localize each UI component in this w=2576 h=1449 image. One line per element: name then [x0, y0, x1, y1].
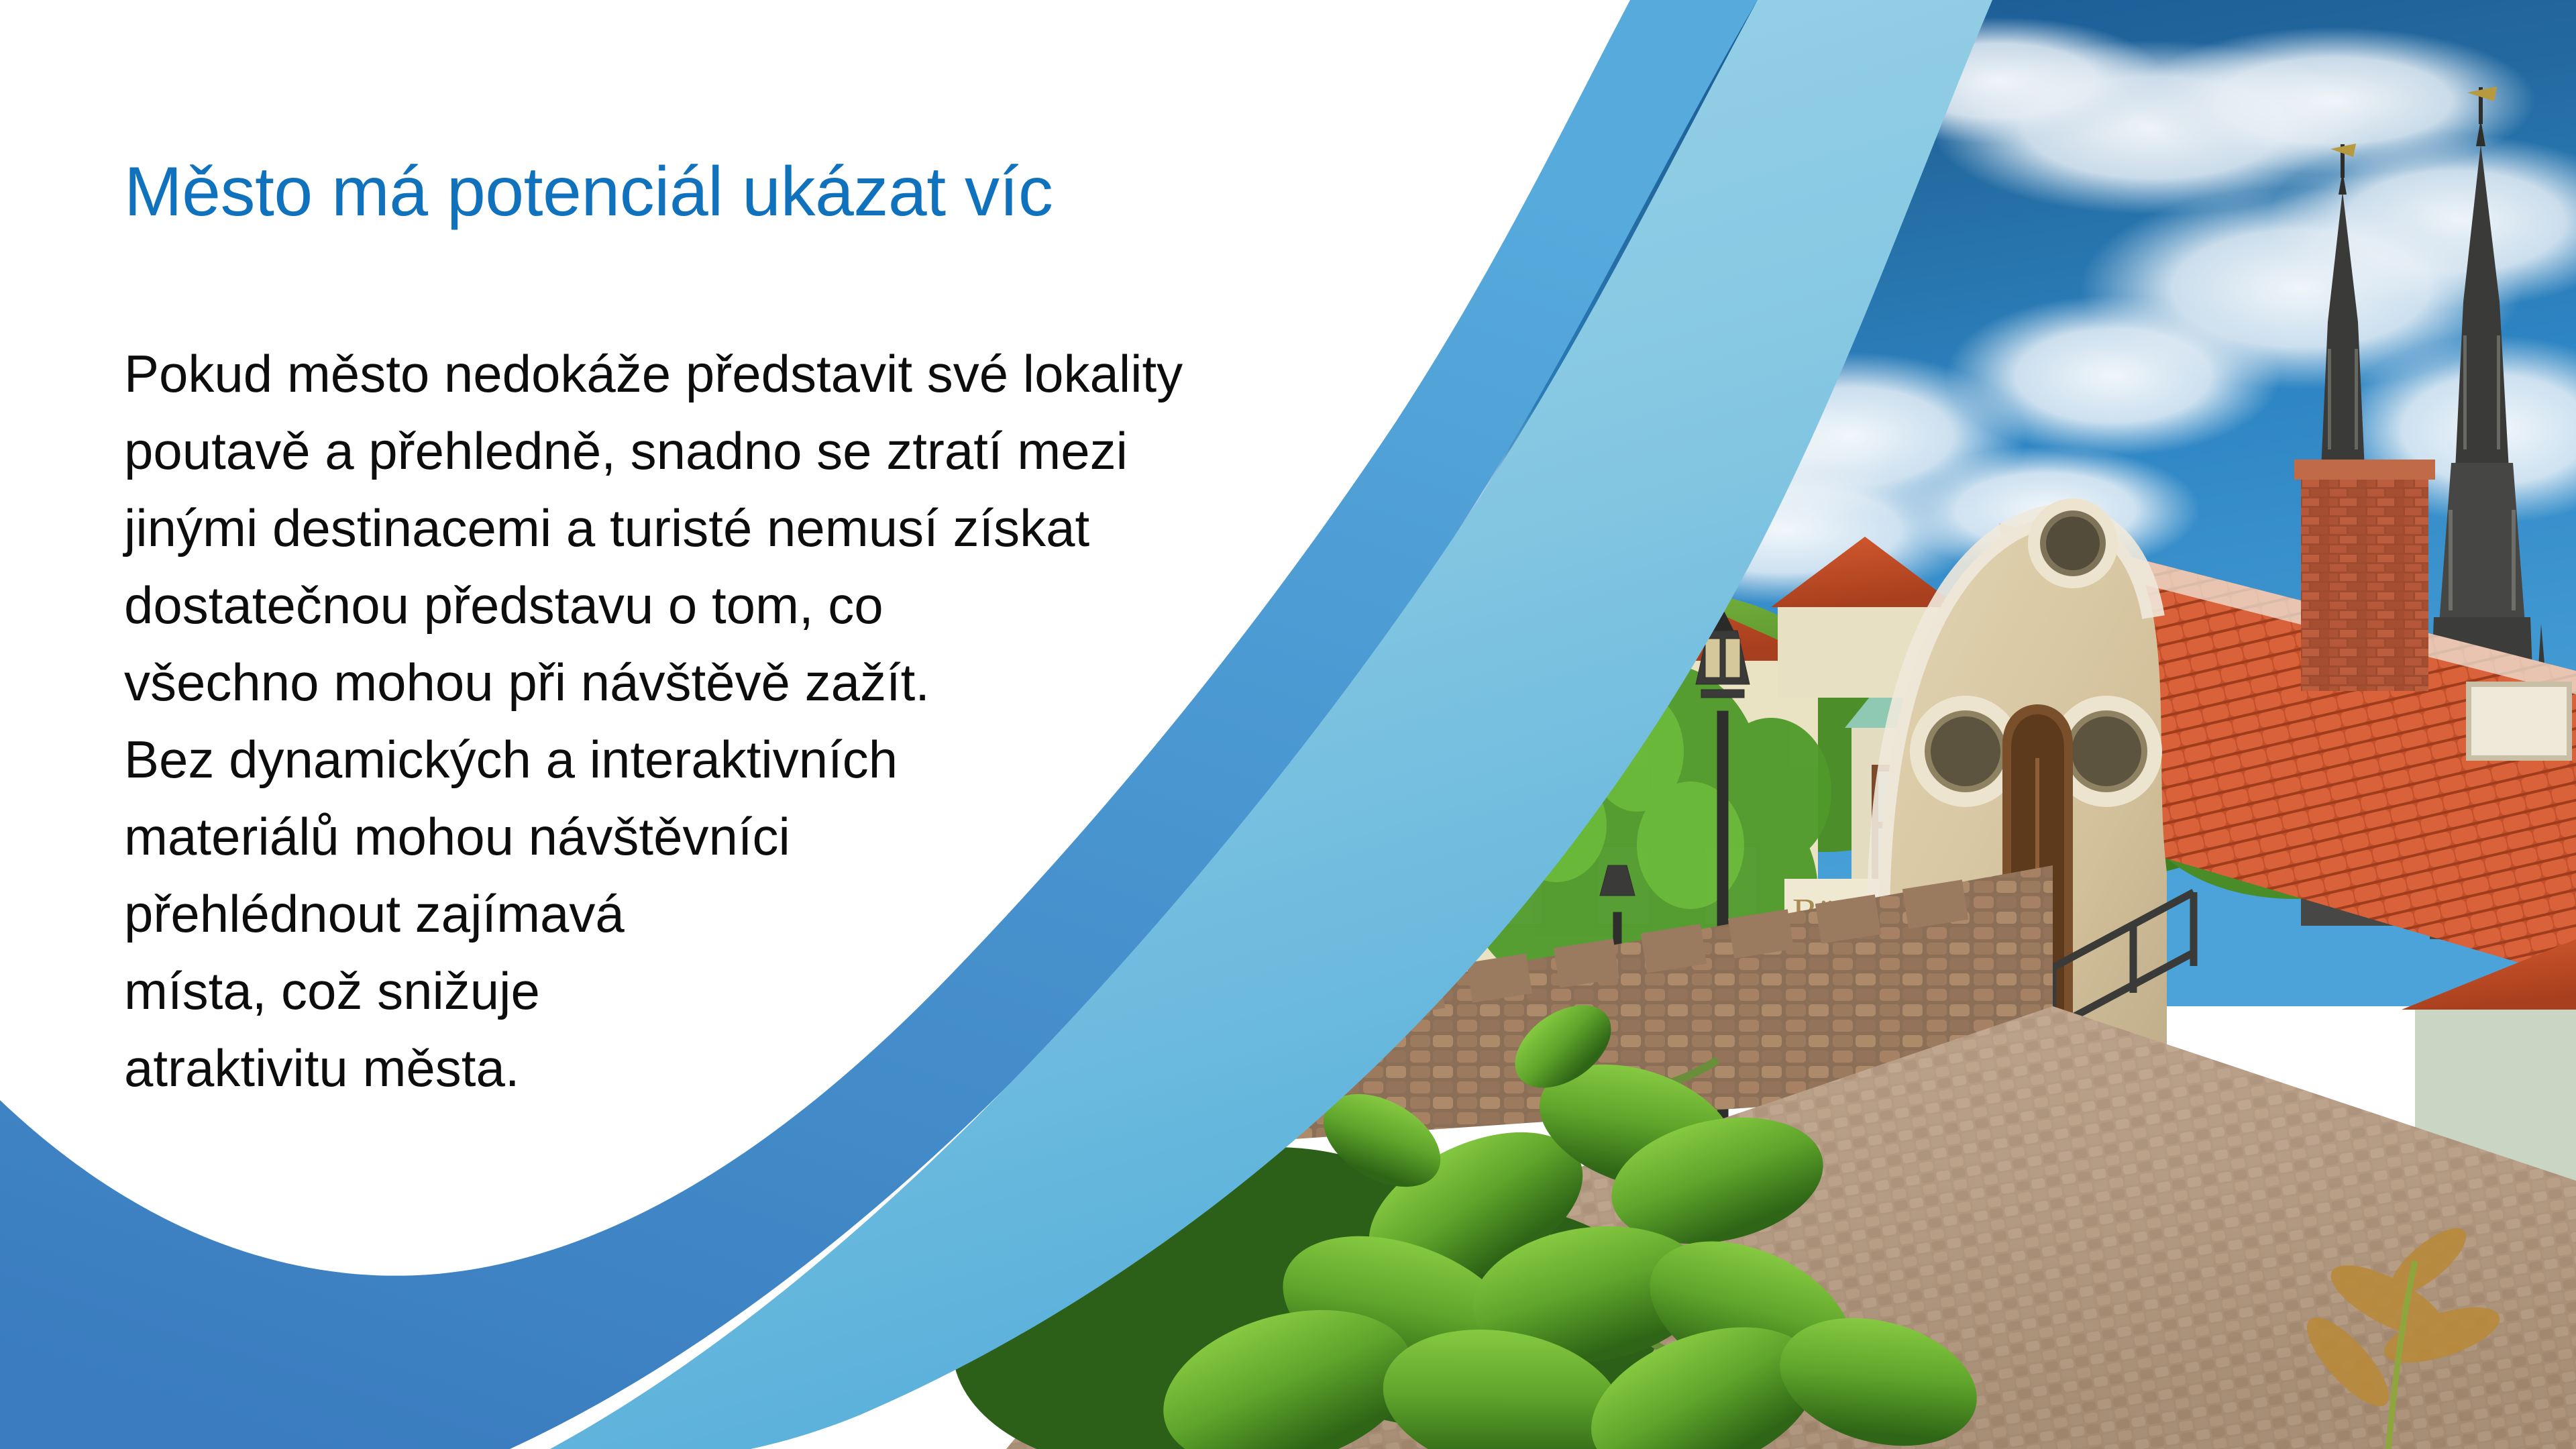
body-line: atraktivitu města.	[124, 1030, 1372, 1107]
presentation-slide: Böttge	[0, 0, 2576, 1449]
body-line: přehlédnout zajímavá	[124, 875, 1372, 953]
body-line: všechno mohou při návštěvě zažít.	[124, 644, 1372, 721]
body-line: jinými destinacemi a turisté nemusí získ…	[124, 490, 1372, 567]
body-line: poutavě a přehledně, snadno se ztratí me…	[124, 413, 1372, 490]
body-line: Bez dynamických a interaktivních	[124, 721, 1372, 798]
body-copy: Pokud město nedokáže představit své loka…	[124, 335, 1372, 1107]
body-line: Pokud město nedokáže představit své loka…	[124, 335, 1372, 413]
body-line: dostatečnou představu o tom, co	[124, 567, 1372, 644]
page-title: Město má potenciál ukázat víc	[124, 156, 1399, 229]
body-line: místa, což snižuje	[124, 953, 1372, 1030]
body-line: materiálů mohou návštěvníci	[124, 798, 1372, 875]
photo-chimney	[2301, 470, 2428, 691]
